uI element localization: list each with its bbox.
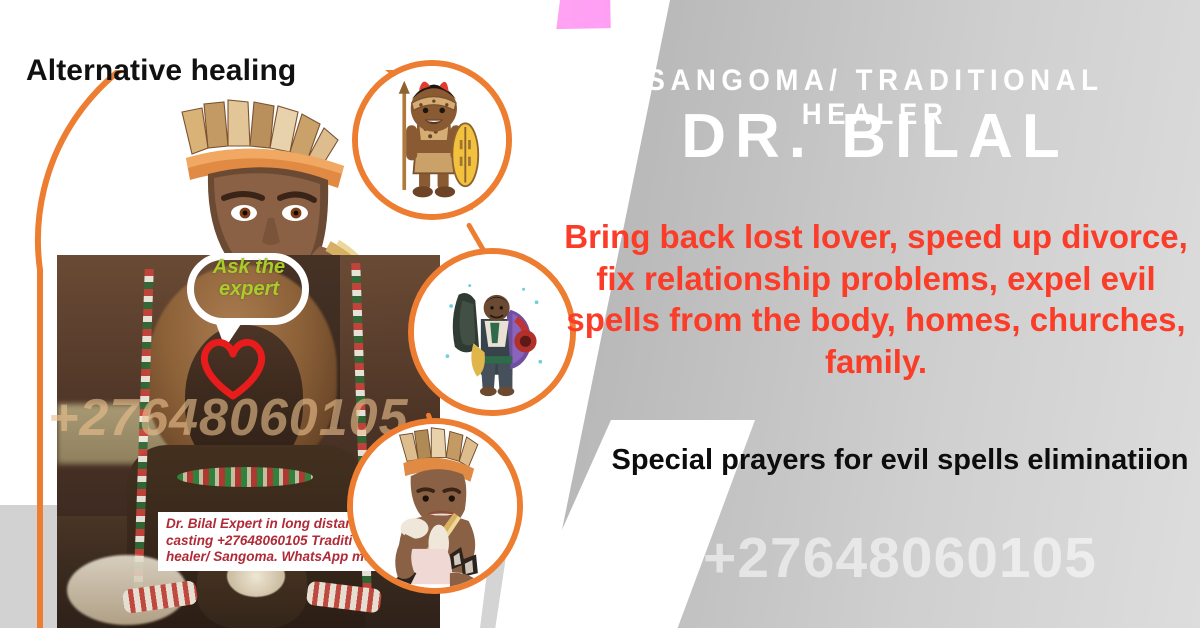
- photo-beaded-necklace: [177, 467, 313, 487]
- offer-text: Special prayers for evil spells eliminat…: [600, 442, 1200, 480]
- crouching-warrior-illustration: [347, 418, 523, 594]
- healer-name: DR. BILAL: [560, 104, 1190, 169]
- caption-line-3: healer/ Sangoma. WhatsApp me: [166, 549, 384, 566]
- traditional-healer-illustration: [408, 248, 576, 416]
- page-title: Alternative healing: [26, 54, 296, 88]
- services-text: Bring back lost lover, speed up divorce,…: [552, 216, 1200, 382]
- phone-watermark: +27648060105: [600, 525, 1200, 591]
- speech-bubble-text: Ask the expert: [193, 256, 305, 301]
- zulu-warrior-illustration: [352, 60, 512, 220]
- poster-canvas: Ask the expert +27648060105 Dr. Bilal Ex…: [0, 0, 1200, 628]
